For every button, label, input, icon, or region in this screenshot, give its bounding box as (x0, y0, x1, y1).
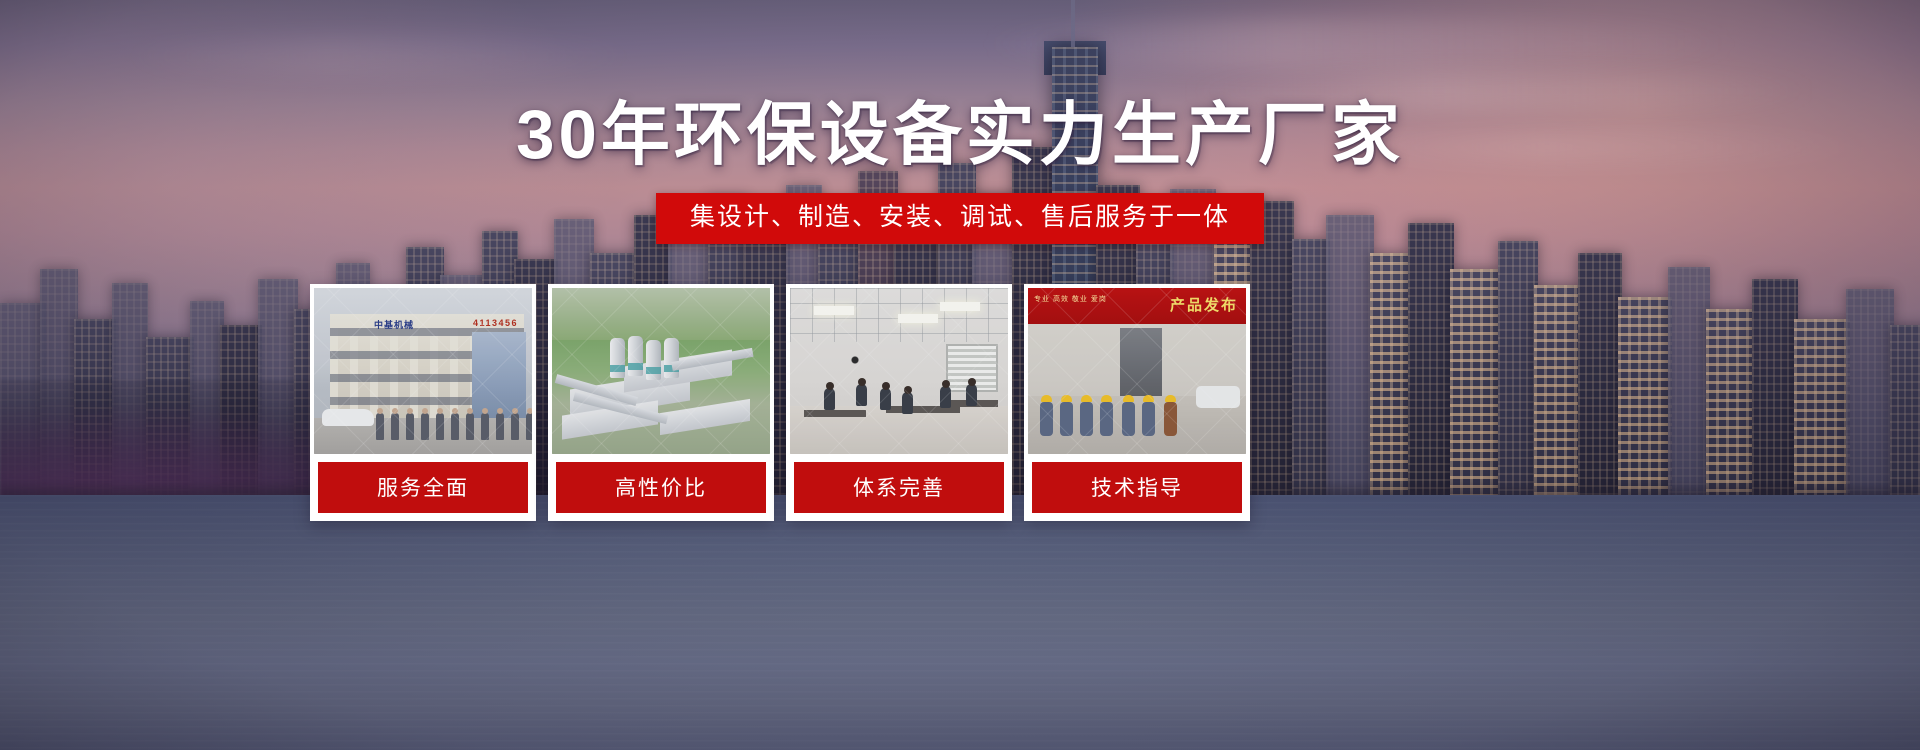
banner-content: 30年环保设备实力生产厂家 集设计、制造、安装、调试、售后服务于一体 中基机械 … (0, 0, 1920, 750)
card-photo-office-interior (790, 288, 1008, 454)
card-label-value: 高性价比 (552, 458, 770, 517)
card-photo-office-building: 中基机械 4113456 (314, 288, 532, 454)
card-label-service: 服务全面 (314, 458, 532, 517)
banner-subtitle-bar: 集设计、制造、安装、调试、售后服务于一体 (656, 193, 1264, 244)
hero-banner: 30年环保设备实力生产厂家 集设计、制造、安装、调试、售后服务于一体 中基机械 … (0, 0, 1920, 750)
card-photo-aerial-plant (552, 288, 770, 454)
banner-headline: 30年环保设备实力生产厂家 (0, 98, 1920, 173)
card-label-guidance: 技术指导 (1028, 458, 1246, 517)
feature-card-guidance[interactable]: 专业 高效 敬业 爱岗 产品发布 (1024, 284, 1250, 521)
feature-card-service[interactable]: 中基机械 4113456 服务全面 (310, 284, 536, 521)
feature-card-system[interactable]: 体系完善 (786, 284, 1012, 521)
feature-card-list: 中基机械 4113456 服务全面 (310, 284, 1250, 521)
feature-card-value[interactable]: 高性价比 (548, 284, 774, 521)
subtitle-bar-wrapper: 集设计、制造、安装、调试、售后服务于一体 (0, 193, 1920, 244)
card-label-system: 体系完善 (790, 458, 1008, 517)
card-photo-factory-workers: 专业 高效 敬业 爱岗 产品发布 (1028, 288, 1246, 454)
